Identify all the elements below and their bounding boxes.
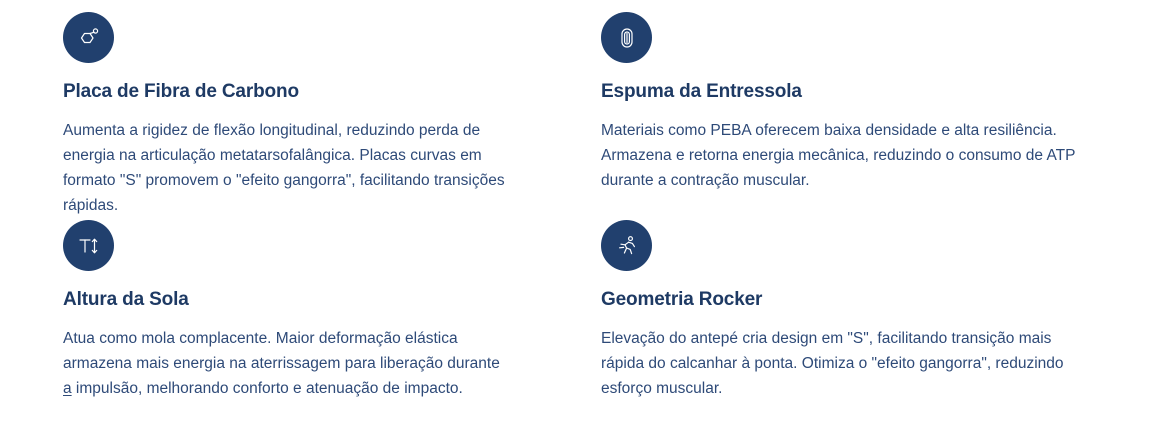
feature-description: Elevação do antepé cria design em "S", f… bbox=[601, 326, 1081, 401]
feature-card-midsole-foam: Espuma da Entressola Materiais como PEBA… bbox=[0, 12, 1161, 220]
feature-description: Materiais como PEBA oferecem baixa densi… bbox=[601, 118, 1081, 193]
feature-title: Geometria Rocker bbox=[601, 289, 1101, 312]
foam-capsule-icon-badge bbox=[601, 12, 652, 63]
running-person-icon bbox=[615, 234, 639, 258]
feature-title: Espuma da Entressola bbox=[601, 81, 1101, 104]
running-person-icon-badge bbox=[601, 220, 652, 271]
features-grid: Placa de Fibra de Carbono Aumenta a rigi… bbox=[0, 0, 1161, 401]
foam-capsule-icon bbox=[615, 26, 639, 50]
feature-card-rocker-geometry: Geometria Rocker Elevação do antepé cria… bbox=[0, 220, 1161, 401]
